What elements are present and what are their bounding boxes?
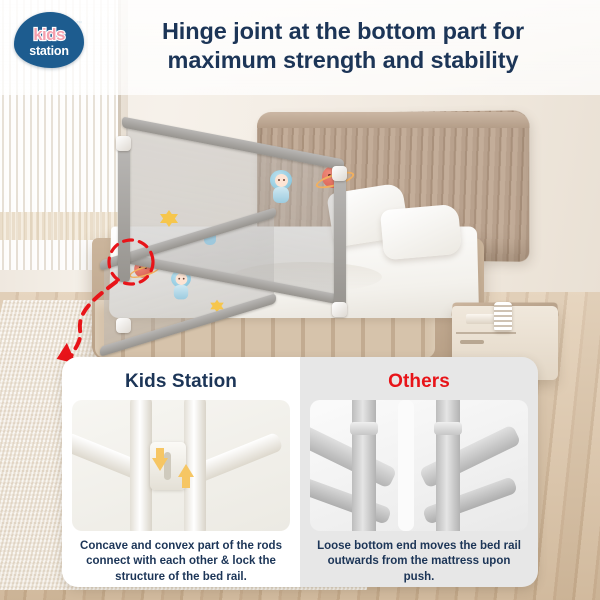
rail-right-post [334, 170, 346, 310]
coil-decor-object [494, 302, 512, 332]
rod-vertical-right [436, 400, 460, 531]
comparison-column-kids-station: Kids Station Concave and convex part of … [62, 357, 300, 587]
nightstand-drawer-seam [456, 332, 516, 334]
up-arrow-icon [178, 464, 194, 477]
nightstand-handle [460, 340, 484, 344]
rod-collar-right [434, 422, 462, 435]
kids-station-joint-photo [72, 400, 290, 531]
rod-collar-left [350, 422, 378, 435]
others-title: Others [388, 371, 450, 393]
rail-hinge-joint-cap [116, 318, 131, 333]
kids-station-logo: kids station ™ [14, 12, 84, 68]
others-caption: Loose bottom end moves the bed rail outw… [310, 539, 528, 585]
others-joint-photo [310, 400, 528, 531]
headline-line-2: maximum strength and stability [95, 46, 591, 75]
rod-vertical-left [352, 400, 376, 531]
logo-station-text: station [14, 44, 84, 58]
up-arrow-icon [182, 476, 190, 488]
astronaut-decal [268, 170, 294, 204]
trademark-icon: ™ [76, 21, 82, 27]
rail-joint-cap [332, 302, 347, 317]
loose-joint-gap [398, 400, 414, 531]
rail-left-post [118, 144, 130, 282]
rod-vertical-left [130, 400, 152, 531]
logo-kids-text: kids [14, 25, 84, 45]
comparison-column-others: Others Loose bottom end moves the bed ra… [300, 357, 538, 587]
rail-joint-cap [116, 136, 131, 151]
kids-station-caption: Concave and convex part of the rods conn… [72, 539, 290, 585]
pillow [380, 204, 462, 261]
page-title: Hinge joint at the bottom part for maxim… [95, 17, 591, 75]
kids-station-title: Kids Station [125, 371, 237, 393]
header-band: kids station ™ Hinge joint at the bottom… [0, 0, 600, 95]
nightstand-tray [466, 314, 496, 324]
comparison-panel: Kids Station Concave and convex part of … [62, 357, 538, 587]
down-arrow-icon [152, 458, 168, 471]
rail-joint-cap [332, 166, 347, 181]
headline-line-1: Hinge joint at the bottom part for [95, 17, 591, 46]
star-decal [160, 210, 178, 223]
bed-rail-product [96, 122, 366, 322]
